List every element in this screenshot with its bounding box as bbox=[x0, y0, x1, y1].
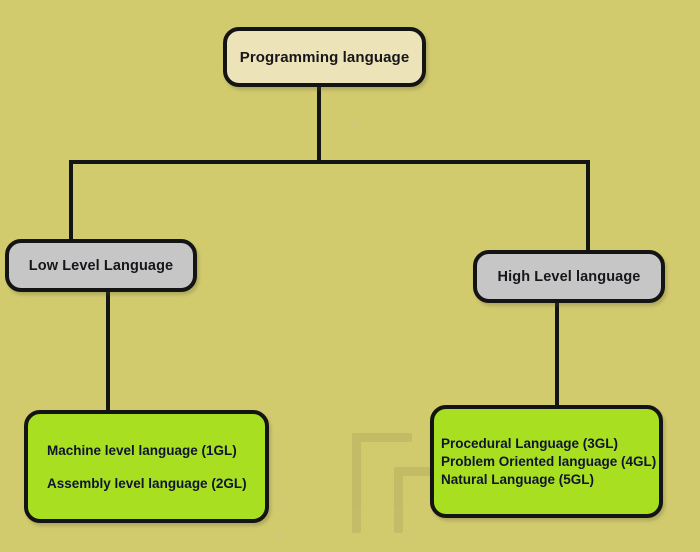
connector-low-level-to-items bbox=[106, 290, 110, 412]
node-high-level-language[interactable]: High Level language bbox=[473, 250, 665, 303]
high-level-child-item: Procedural Language (3GL) bbox=[441, 436, 618, 451]
node-high-level-language-label: High Level language bbox=[498, 269, 641, 285]
low-level-child-item: Machine level language (1GL) bbox=[47, 443, 237, 458]
connector-bus-to-high-level bbox=[586, 160, 590, 253]
node-low-level-language-label: Low Level Language bbox=[29, 258, 173, 274]
high-level-child-item: Natural Language (5GL) bbox=[441, 472, 594, 487]
low-level-child-item: Assembly level language (2GL) bbox=[47, 476, 247, 491]
diagram-canvas: Programming language Low Level Language … bbox=[0, 0, 700, 552]
node-programming-language-label: Programming language bbox=[240, 49, 410, 66]
node-low-level-language[interactable]: Low Level Language bbox=[5, 239, 197, 292]
connector-bus-to-low-level bbox=[69, 160, 73, 242]
high-level-child-item: Problem Oriented language (4GL) bbox=[441, 454, 656, 469]
node-programming-language[interactable]: Programming language bbox=[223, 27, 426, 87]
connector-root-stem bbox=[317, 87, 321, 164]
connector-high-level-to-items bbox=[555, 301, 559, 408]
noise-dot bbox=[352, 122, 358, 126]
connector-horizontal-bus bbox=[69, 160, 590, 164]
node-low-level-children[interactable]: Machine level language (1GL) Assembly le… bbox=[24, 410, 269, 523]
noise-dot bbox=[277, 535, 282, 539]
node-high-level-children[interactable]: Procedural Language (3GL) Problem Orient… bbox=[430, 405, 663, 518]
